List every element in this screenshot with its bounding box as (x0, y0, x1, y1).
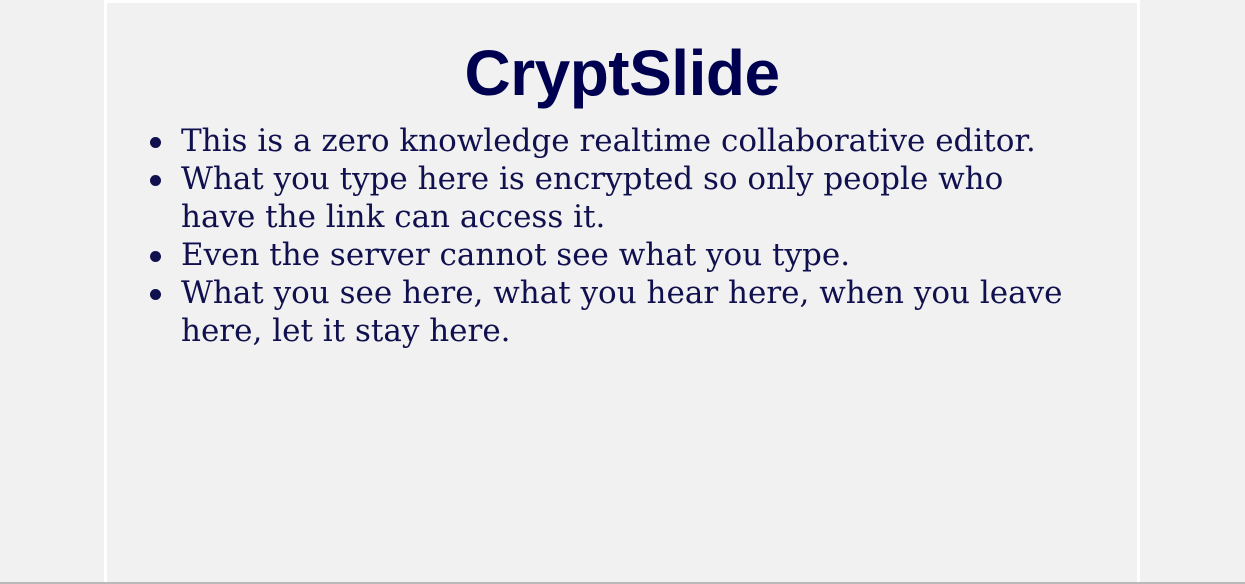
slide-frame: CryptSlide This is a zero knowledge real… (104, 0, 1140, 582)
slide-content[interactable]: CryptSlide This is a zero knowledge real… (107, 3, 1137, 582)
slide-title[interactable]: CryptSlide (107, 3, 1137, 105)
list-item[interactable]: What you see here, what you hear here, w… (107, 274, 1137, 350)
slide-viewer: CryptSlide This is a zero knowledge real… (0, 0, 1245, 584)
bullet-dot-icon (150, 137, 161, 148)
bullet-dot-icon (150, 175, 161, 186)
slide-bullet-list[interactable]: This is a zero knowledge realtime collab… (107, 122, 1137, 350)
bullet-text: What you see here, what you hear here, w… (181, 274, 1082, 350)
bullet-text: This is a zero knowledge realtime collab… (181, 122, 1082, 160)
bullet-dot-icon (150, 289, 161, 300)
list-item[interactable]: What you type here is encrypted so only … (107, 160, 1137, 236)
list-item[interactable]: Even the server cannot see what you type… (107, 236, 1137, 274)
list-item[interactable]: This is a zero knowledge realtime collab… (107, 122, 1137, 160)
bullet-text: Even the server cannot see what you type… (181, 236, 1082, 274)
bullet-text: What you type here is encrypted so only … (181, 160, 1082, 236)
bullet-dot-icon (150, 251, 161, 262)
